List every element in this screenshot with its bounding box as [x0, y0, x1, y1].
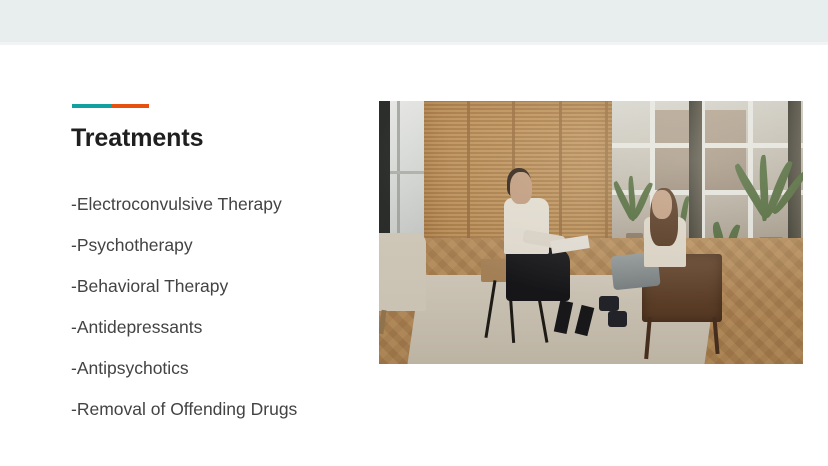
therapy-session-photo: [379, 101, 803, 364]
page-title: Treatments: [71, 125, 203, 153]
list-item: -Removal of Offending Drugs: [71, 398, 371, 439]
treatment-list: -Electroconvulsive Therapy -Psychotherap…: [71, 193, 371, 439]
list-item: -Antidepressants: [71, 316, 371, 357]
accent-rule-orange-segment: [111, 104, 150, 108]
photo-scene: [379, 101, 803, 364]
photo-color-grade: [379, 101, 803, 364]
accent-rule: [72, 104, 149, 108]
presentation-top-band: [0, 0, 828, 42]
list-item: -Electroconvulsive Therapy: [71, 193, 371, 234]
accent-rule-teal-segment: [72, 104, 111, 108]
slide-canvas: Treatments -Electroconvulsive Therapy -P…: [0, 45, 828, 466]
list-item: -Psychotherapy: [71, 234, 371, 275]
list-item: -Behavioral Therapy: [71, 275, 371, 316]
list-item: -Antipsychotics: [71, 357, 371, 398]
slide-screen: Treatments -Electroconvulsive Therapy -P…: [0, 0, 828, 466]
